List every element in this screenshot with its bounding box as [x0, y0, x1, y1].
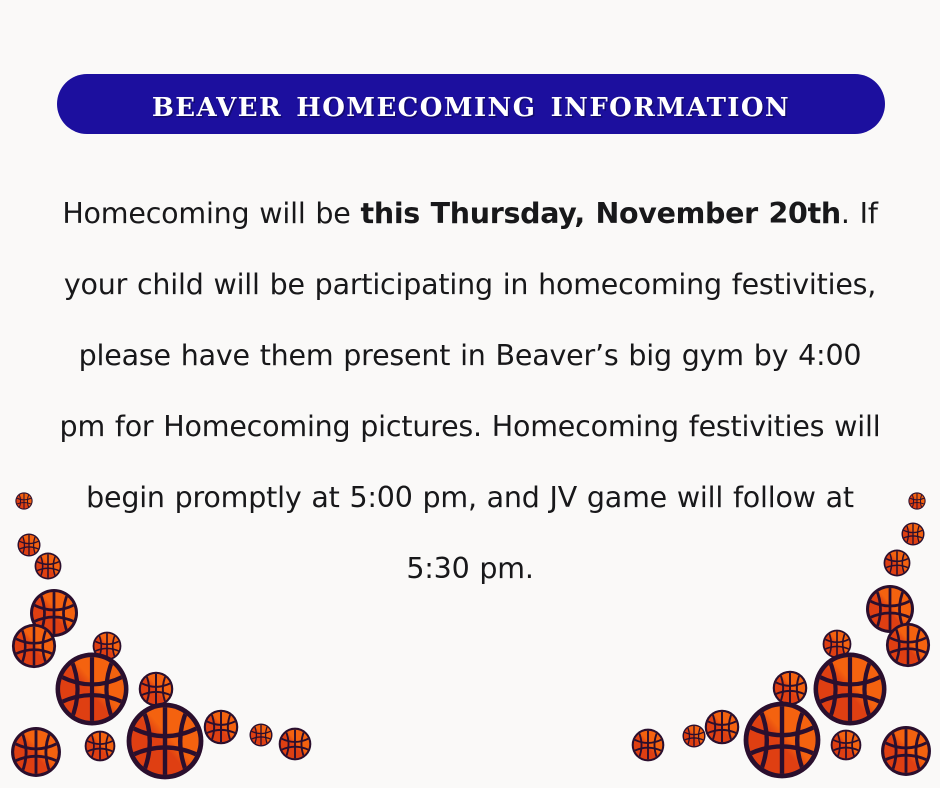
announcement-body: Homecoming will be this Thursday, Novemb… [52, 178, 888, 604]
basketball-icon [125, 701, 205, 781]
basketball-icon [880, 725, 932, 777]
basketball-icon [84, 730, 116, 762]
basketball-icon [704, 709, 740, 745]
page-title: Beaver Homecoming Information [152, 85, 790, 124]
basketball-icon [822, 629, 852, 659]
basketball-icon [901, 522, 925, 546]
basketball-icon [17, 533, 41, 557]
body-segment-details: . If your child will be participating in… [60, 197, 881, 585]
basketball-icon [278, 727, 312, 761]
basketball-icon [830, 729, 862, 761]
title-banner: Beaver Homecoming Information [57, 74, 885, 134]
basketball-icon [15, 492, 33, 510]
basketball-icon [203, 709, 239, 745]
basketball-icon [631, 728, 665, 762]
basketball-icon [54, 651, 130, 727]
body-segment-lead: Homecoming will be [62, 197, 360, 230]
basketball-icon [10, 726, 62, 778]
basketball-icon [742, 700, 822, 780]
basketball-icon [812, 651, 888, 727]
flyer-canvas: Beaver Homecoming Information Homecoming… [0, 0, 940, 788]
basketball-icon [885, 622, 931, 668]
basketball-icon [682, 724, 706, 748]
basketball-icon [772, 670, 808, 706]
basketball-icon [249, 723, 273, 747]
basketball-icon [11, 623, 57, 669]
basketball-icon [138, 671, 174, 707]
body-segment-date: this Thursday, November 20th [361, 197, 841, 230]
basketball-icon [908, 492, 926, 510]
basketball-icon [92, 631, 122, 661]
